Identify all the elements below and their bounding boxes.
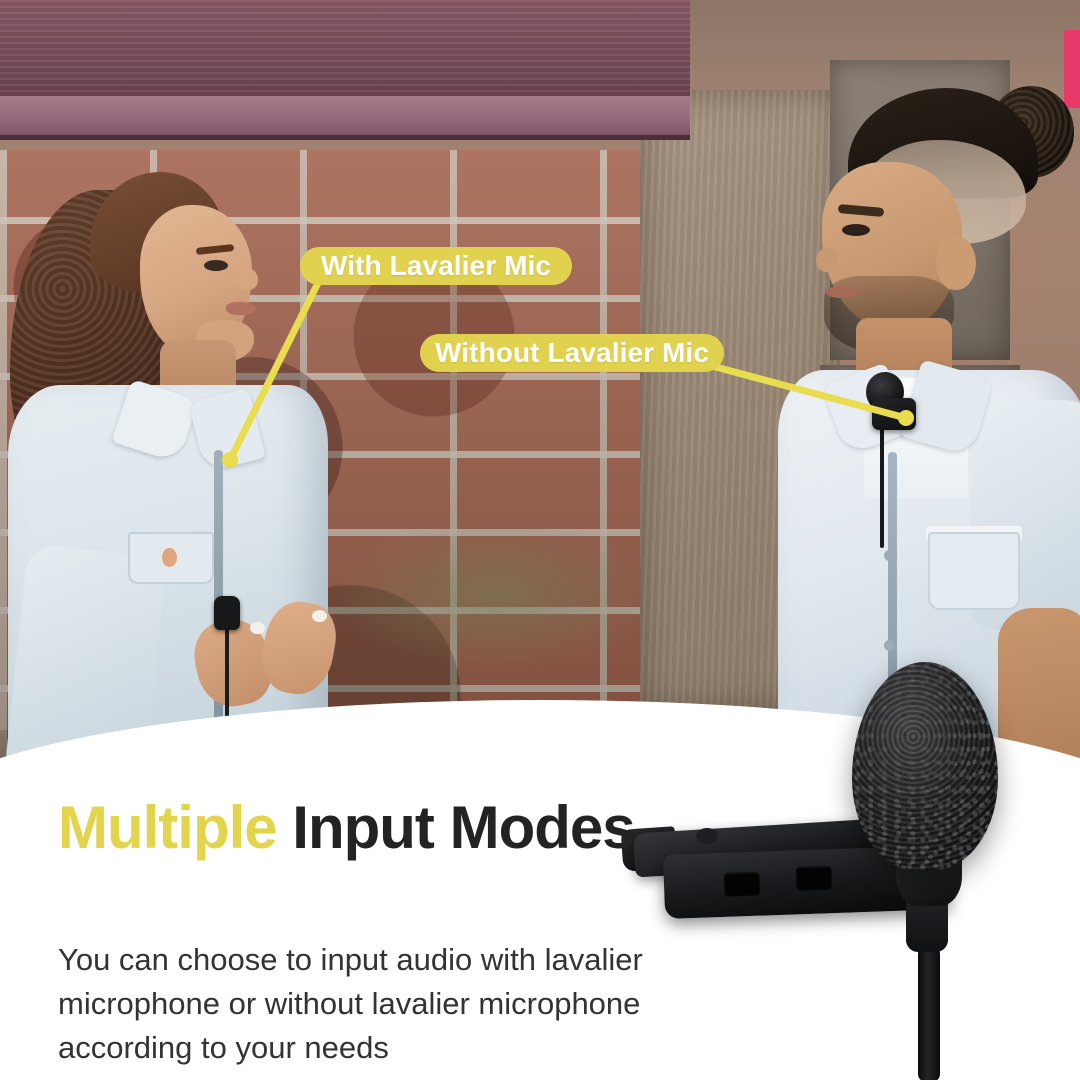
woman-eye [204, 260, 228, 271]
woman-fingernail [250, 622, 265, 634]
person-woman [0, 150, 360, 800]
mic-foam-texture [852, 662, 998, 870]
headline-rest: Input Modes [277, 794, 635, 861]
callout-pill-with-lavalier-mic: With Lavalier Mic [300, 247, 572, 285]
callout-pill-with-label: With Lavalier Mic [321, 252, 551, 280]
mic-clip-slot [796, 865, 833, 890]
mic-clip-slot [724, 871, 761, 896]
man-ear [936, 236, 976, 290]
headline-accent-word: Multiple [58, 794, 277, 861]
page-title: Multiple Input Modes [58, 796, 678, 861]
mic-foam-windscreen [852, 662, 998, 870]
man-nose [816, 248, 838, 272]
woman-lips [226, 302, 256, 315]
mic-cable [918, 946, 940, 1080]
man-lavalier-mic [872, 398, 916, 430]
callout-pill-without-lavalier-mic: Without Lavalier Mic [420, 334, 724, 372]
man-eye [842, 224, 870, 236]
woman-nose [238, 268, 258, 290]
man-lips [826, 286, 858, 298]
callout-pill-without-label: Without Lavalier Mic [435, 339, 709, 367]
man-shirt-button [884, 550, 895, 561]
woman-lavalier-mic [214, 596, 240, 630]
man-mic-cable [880, 428, 884, 548]
mic-clip-pivot [696, 828, 718, 844]
product-feature-card: With Lavalier Mic Without Lavalier Mic M… [0, 0, 1080, 1080]
woman-jacket-button [162, 548, 177, 567]
painted-wood-sill [0, 96, 690, 140]
painted-wood-beam [0, 0, 690, 98]
man-shirt-pocket [928, 532, 1020, 610]
woman-fingernail [312, 610, 327, 622]
body-description: You can choose to input audio with laval… [58, 938, 698, 1070]
